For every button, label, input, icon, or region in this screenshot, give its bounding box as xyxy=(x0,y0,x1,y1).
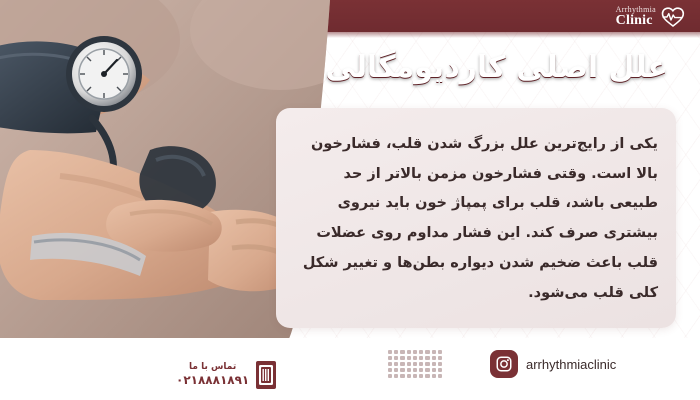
content-card: یکی از رایج‌ترین علل بزرگ شدن قلب، فشارخ… xyxy=(276,108,676,328)
phone-card-icon xyxy=(255,360,277,390)
page-title: علل اصلی کاردیومگالی xyxy=(319,48,674,87)
heartbeat-logo-icon xyxy=(660,5,686,29)
instagram-block[interactable]: arrhythmiaclinic xyxy=(490,350,616,378)
contact-block[interactable]: تماس با ما ۰۲۱۸۸۸۱۸۹۱ xyxy=(176,360,277,390)
contact-phone: ۰۲۱۸۸۸۱۸۹۱ xyxy=(176,373,249,388)
instagram-icon xyxy=(490,350,518,378)
instagram-handle: arrhythmiaclinic xyxy=(526,357,616,372)
brand-logo: Arrhythmia Clinic xyxy=(568,2,686,32)
content-paragraph: یکی از رایج‌ترین علل بزرگ شدن قلب، فشارخ… xyxy=(294,130,658,308)
contact-text: تماس با ما ۰۲۱۸۸۸۱۸۹۱ xyxy=(176,362,249,388)
poster-canvas: Arrhythmia Clinic xyxy=(0,0,700,400)
dot-grid-icon xyxy=(388,350,442,378)
page-title-wrap: علل اصلی کاردیومگالی xyxy=(254,48,674,87)
footer-bar: تماس با ما ۰۲۱۸۸۸۱۸۹۱ arrhythmiaclinic xyxy=(0,338,700,400)
contact-label: تماس با ما xyxy=(189,362,236,373)
brand-logo-bottom-label: Clinic xyxy=(616,14,653,28)
brand-logo-text: Arrhythmia Clinic xyxy=(616,6,656,28)
